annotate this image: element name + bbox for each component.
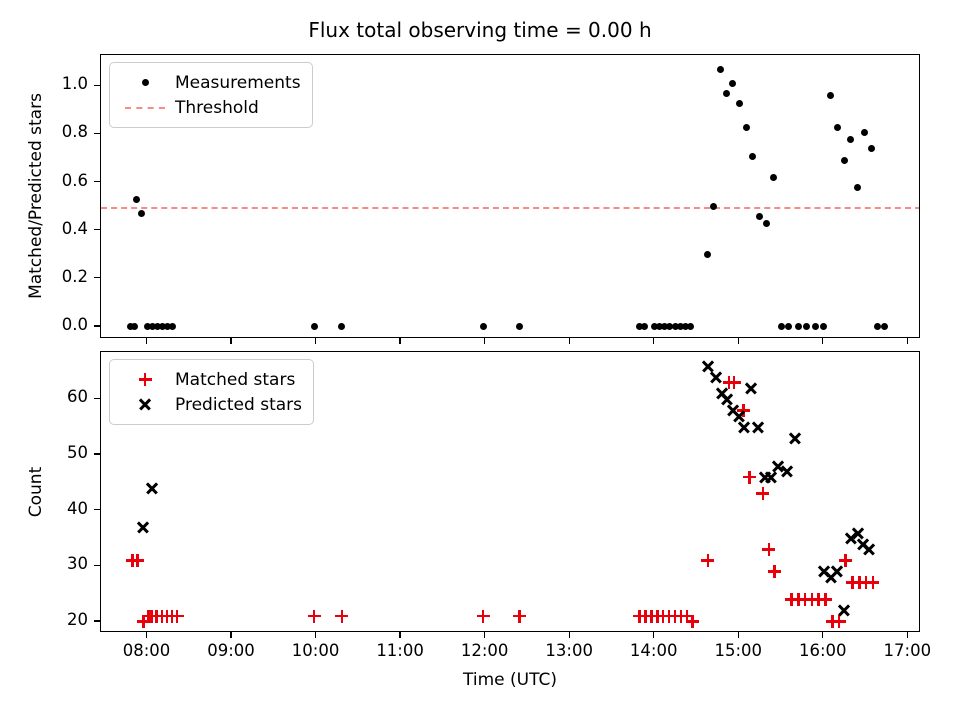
measurement-point	[687, 323, 694, 330]
predicted-star-point	[831, 565, 844, 578]
legend-entry-predicted-stars[interactable]: Predicted stars	[119, 392, 302, 417]
y-axis-tick	[94, 620, 100, 621]
y-axis-tick	[94, 181, 100, 182]
predicted-star-point	[780, 465, 793, 478]
matched-star-point	[513, 610, 526, 623]
x-axis-tick	[399, 338, 400, 344]
bottom-panel-axes: Matched stars Predicted stars	[100, 351, 920, 632]
matched-star-point	[762, 543, 775, 556]
matched-star-point	[171, 610, 184, 623]
matched-star-point	[701, 554, 714, 567]
measurement-point	[338, 323, 345, 330]
x-axis-tick-label: 14:00	[609, 641, 699, 660]
measurement-point	[763, 220, 770, 227]
x-axis-tick-label: 13:00	[524, 641, 614, 660]
measurement-point	[785, 323, 792, 330]
legend-label-matched-stars: Matched stars	[171, 370, 295, 390]
top-panel-axes: Measurements Threshold	[100, 54, 920, 338]
measurement-point	[749, 153, 756, 160]
measurement-point	[795, 323, 802, 330]
y-axis-tick-label: 50	[24, 443, 88, 462]
y-axis-tick-label: 40	[24, 499, 88, 518]
x-axis-tick-label: 15:00	[693, 641, 783, 660]
measurement-point	[729, 80, 736, 87]
x-axis-tick-label: 17:00	[862, 641, 952, 660]
bottom-panel-legend[interactable]: Matched stars Predicted stars	[109, 359, 314, 425]
measurement-point	[881, 323, 888, 330]
x-axis-tick	[230, 632, 231, 638]
measurement-point	[854, 184, 861, 191]
x-axis-tick-label: 09:00	[186, 641, 276, 660]
y-axis-tick	[94, 565, 100, 566]
predicted-star-point	[765, 471, 778, 484]
measurement-point	[138, 210, 145, 217]
measurement-point	[770, 174, 777, 181]
threshold-line	[101, 207, 920, 209]
predicted-star-point	[145, 482, 158, 495]
x-axis-tick	[653, 338, 654, 344]
legend-entry-threshold[interactable]: Threshold	[119, 95, 301, 120]
x-axis-tick	[146, 632, 147, 638]
x-axis-tick	[569, 632, 570, 638]
x-axis-tick	[146, 338, 147, 344]
measurement-point	[480, 323, 487, 330]
x-axis-tick-label: 16:00	[778, 641, 868, 660]
y-axis-tick	[94, 133, 100, 134]
x-axis-tick	[484, 338, 485, 344]
measurement-point	[704, 251, 711, 258]
top-panel-legend[interactable]: Measurements Threshold	[109, 62, 313, 128]
predicted-star-point	[745, 382, 758, 395]
predicted-star-point	[863, 543, 876, 556]
figure-canvas: Flux total observing time = 0.00 h Measu…	[0, 0, 960, 720]
matched-star-point	[756, 487, 769, 500]
figure-title: Flux total observing time = 0.00 h	[0, 18, 960, 42]
y-axis-tick-label: 0.0	[24, 315, 88, 334]
y-axis-tick-label: 30	[24, 554, 88, 573]
x-axis-tick	[822, 632, 823, 638]
y-axis-tick-label: 0.8	[24, 122, 88, 141]
y-axis-tick	[94, 277, 100, 278]
measurement-point	[723, 90, 730, 97]
measurement-point	[131, 323, 138, 330]
measurement-point	[756, 213, 763, 220]
measurement-point	[169, 323, 176, 330]
x-axis-tick	[822, 338, 823, 344]
x-axis-tick	[653, 632, 654, 638]
measurement-point	[847, 136, 854, 143]
y-axis-tick-label: 0.4	[24, 219, 88, 238]
plus-marker-icon	[119, 373, 171, 386]
measurement-point	[820, 323, 827, 330]
y-axis-tick	[94, 509, 100, 510]
x-axis-tick	[738, 338, 739, 344]
predicted-star-point	[738, 421, 751, 434]
measurement-point	[516, 323, 523, 330]
matched-star-point	[866, 576, 879, 589]
measurement-point	[710, 203, 717, 210]
y-axis-tick	[94, 453, 100, 454]
y-axis-tick-label: 20	[24, 610, 88, 629]
matched-star-point	[768, 565, 781, 578]
y-axis-tick	[94, 229, 100, 230]
matched-star-point	[686, 615, 699, 628]
measurement-point	[717, 66, 724, 73]
matched-star-point	[477, 610, 490, 623]
dashed-line-icon	[119, 107, 171, 109]
measurement-point	[736, 100, 743, 107]
legend-label-predicted-stars: Predicted stars	[171, 395, 302, 415]
matched-star-point	[335, 610, 348, 623]
legend-label-threshold: Threshold	[171, 98, 259, 118]
predicted-star-point	[789, 432, 802, 445]
matched-star-point	[819, 593, 832, 606]
predicted-star-point	[751, 421, 764, 434]
y-axis-tick	[94, 85, 100, 86]
measurement-point	[803, 323, 810, 330]
x-axis-tick	[907, 338, 908, 344]
x-axis-tick	[569, 338, 570, 344]
x-axis-tick-label: 10:00	[271, 641, 361, 660]
y-axis-tick	[94, 398, 100, 399]
matched-star-point	[308, 610, 321, 623]
matched-star-point	[743, 471, 756, 484]
x-axis-tick-label: 08:00	[101, 641, 191, 660]
x-axis-tick	[399, 632, 400, 638]
y-axis-tick-label: 0.2	[24, 267, 88, 286]
x-axis-tick	[315, 632, 316, 638]
legend-label-measurements: Measurements	[171, 73, 301, 93]
x-axis-tick	[230, 338, 231, 344]
x-axis-tick	[315, 338, 316, 344]
matched-star-point	[728, 376, 741, 389]
legend-entry-measurements[interactable]: Measurements	[119, 70, 301, 95]
cross-marker-icon	[119, 398, 171, 411]
measurement-point	[641, 323, 648, 330]
measurement-point	[861, 129, 868, 136]
legend-entry-matched-stars[interactable]: Matched stars	[119, 367, 302, 392]
predicted-star-point	[838, 604, 851, 617]
measurement-point	[743, 124, 750, 131]
predicted-star-point	[709, 371, 722, 384]
measurement-point	[133, 196, 140, 203]
measurement-point	[812, 323, 819, 330]
measurement-point	[778, 323, 785, 330]
measurement-point	[311, 323, 318, 330]
y-axis-tick-label: 0.6	[24, 171, 88, 190]
x-axis-tick	[484, 632, 485, 638]
predicted-star-point	[137, 521, 150, 534]
matched-star-point	[131, 554, 144, 567]
x-axis-tick-label: 11:00	[355, 641, 445, 660]
y-axis-tick	[94, 325, 100, 326]
point-marker-icon	[119, 79, 171, 86]
measurement-point	[868, 145, 875, 152]
measurement-point	[827, 92, 834, 99]
measurement-point	[841, 157, 848, 164]
matched-star-point	[833, 615, 846, 628]
x-axis-label: Time (UTC)	[463, 670, 557, 690]
x-axis-tick	[907, 632, 908, 638]
x-axis-tick	[738, 632, 739, 638]
x-axis-tick-label: 12:00	[440, 641, 530, 660]
y-axis-tick-label: 1.0	[24, 74, 88, 93]
measurement-point	[834, 124, 841, 131]
y-axis-tick-label: 60	[24, 387, 88, 406]
